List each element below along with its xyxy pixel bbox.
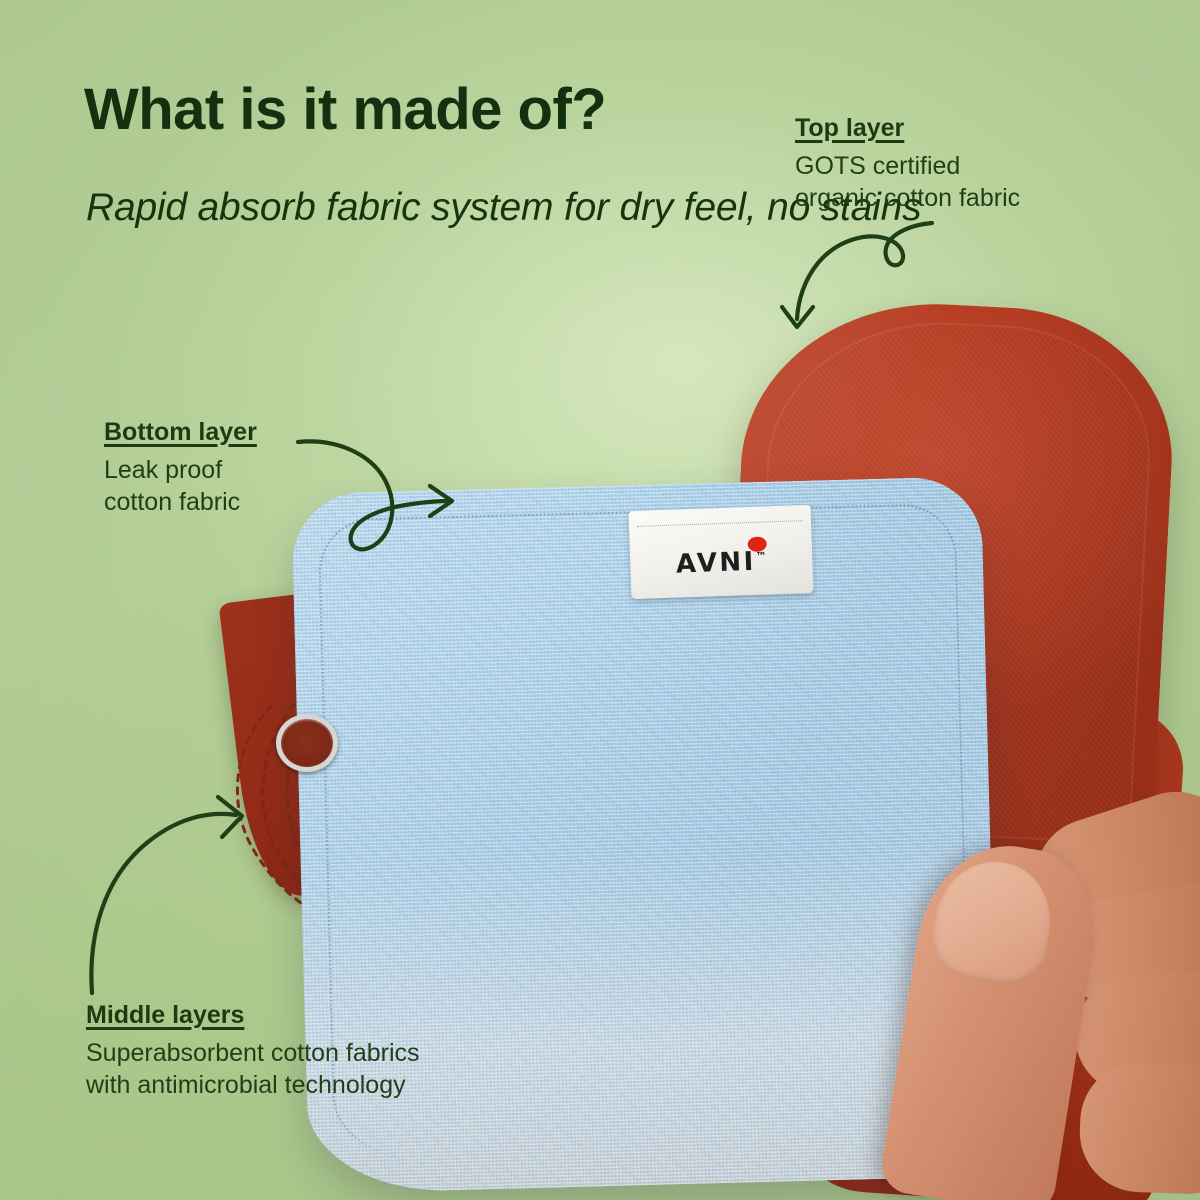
- avni-wordmark-text: AVNI: [675, 547, 756, 580]
- thumbnail: [926, 853, 1058, 990]
- callout-top-layer-title: Top layer: [795, 113, 1020, 143]
- callout-middle-layers-body: Superabsorbent cotton fabrics with antim…: [86, 1037, 420, 1101]
- thumb: [878, 834, 1107, 1200]
- callout-middle-layers: Middle layers Superabsorbent cotton fabr…: [86, 1000, 420, 1101]
- tag-stitch-line: [637, 520, 803, 527]
- callout-top-layer: Top layer GOTS certified organic cotton …: [795, 113, 1020, 214]
- avni-brand-tag: AVNI™: [629, 505, 814, 599]
- hand-holding-pad: [905, 805, 1200, 1200]
- callout-top-layer-body: GOTS certified organic cotton fabric: [795, 150, 1020, 214]
- infographic-canvas: AVNI™ What is it made of? Rapid absorb f…: [0, 0, 1200, 1200]
- callout-middle-layers-title: Middle layers: [86, 1000, 420, 1030]
- avni-wordmark: AVNI™: [630, 545, 813, 581]
- snap-ring-icon: [276, 714, 338, 772]
- finger-little: [1078, 1060, 1200, 1196]
- callout-bottom-layer-title: Bottom layer: [104, 417, 257, 447]
- callout-bottom-layer: Bottom layer Leak proof cotton fabric: [104, 417, 257, 518]
- trademark-symbol: ™: [755, 550, 766, 563]
- page-title: What is it made of?: [84, 80, 606, 141]
- callout-bottom-layer-body: Leak proof cotton fabric: [104, 454, 257, 518]
